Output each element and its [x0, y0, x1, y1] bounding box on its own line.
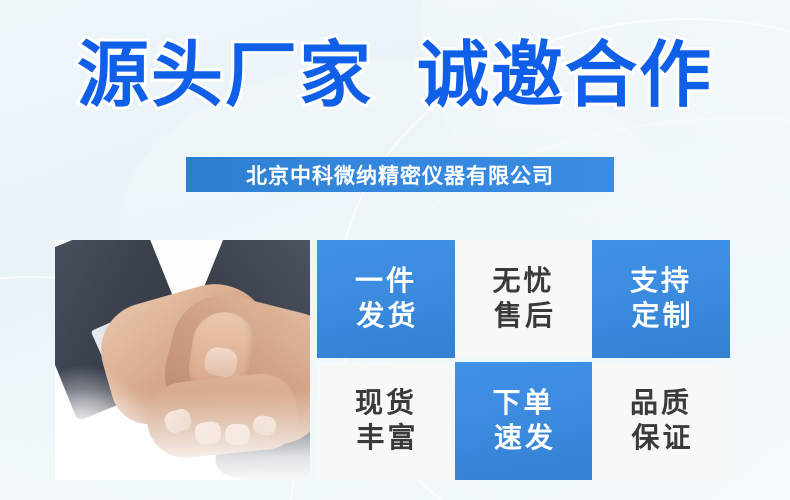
feature-tile-line2: 定制 [628, 299, 693, 334]
feature-tile-line2: 售后 [491, 299, 556, 334]
feature-tile-line1: 品质 [630, 386, 692, 421]
photo-highlight-bottom [55, 390, 310, 480]
feature-tile-line2: 保证 [628, 421, 693, 456]
feature-tile-line1: 下单 [492, 386, 554, 421]
feature-tile-line1: 一件 [355, 264, 417, 299]
feature-tile-xianhuo-fengfu[interactable]: 现货 丰富 [317, 362, 455, 480]
feature-tile-yijian-fahuo[interactable]: 一件 发货 [317, 240, 455, 358]
company-name-text: 北京中科微纳精密仪器有限公司 [246, 160, 554, 190]
feature-tile-line2: 丰富 [353, 421, 418, 456]
handshake-photo [55, 240, 310, 480]
feature-tile-line1: 现货 [355, 386, 417, 421]
feature-tile-zhichi-dingzhi[interactable]: 支持 定制 [592, 240, 730, 358]
company-name-bar: 北京中科微纳精密仪器有限公司 [186, 157, 614, 192]
feature-tile-pinzhi-baozheng[interactable]: 品质 保证 [592, 362, 730, 480]
promotional-banner: 源头厂家 诚邀合作 北京中科微纳精密仪器有限公司 一件 发货 无忧 售后 [0, 0, 790, 500]
feature-tile-xiadan-sufa[interactable]: 下单 速发 [455, 362, 592, 480]
feature-tile-wuyou-shouhou[interactable]: 无忧 售后 [455, 240, 592, 358]
feature-tile-line1: 支持 [630, 264, 692, 299]
feature-grid: 一件 发货 无忧 售后 支持 定制 现货 丰富 下单 速发 品质 保证 [317, 240, 730, 480]
feature-tile-line1: 无忧 [492, 264, 554, 299]
feature-tile-line2: 速发 [491, 421, 556, 456]
feature-tile-line2: 发货 [353, 299, 418, 334]
headline-title: 源头厂家 诚邀合作 [0, 40, 790, 112]
